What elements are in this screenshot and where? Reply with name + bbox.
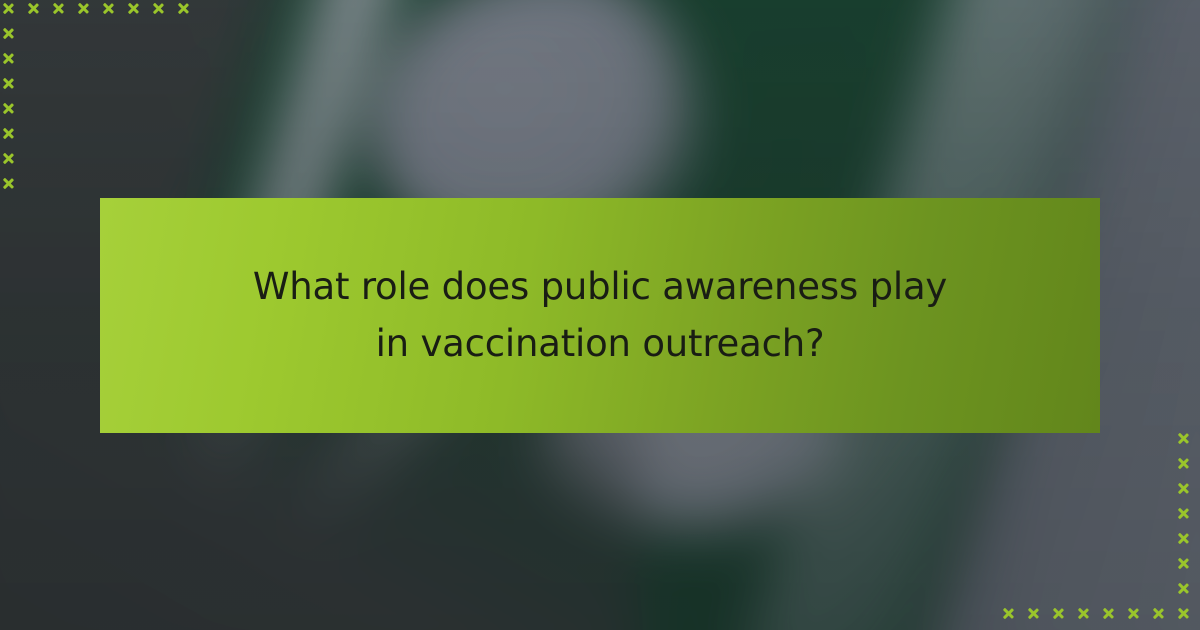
question-text: What role does public awareness play in …	[250, 259, 950, 371]
question-banner: What role does public awareness play in …	[100, 198, 1100, 433]
question-card: What role does public awareness play in …	[0, 0, 1200, 630]
